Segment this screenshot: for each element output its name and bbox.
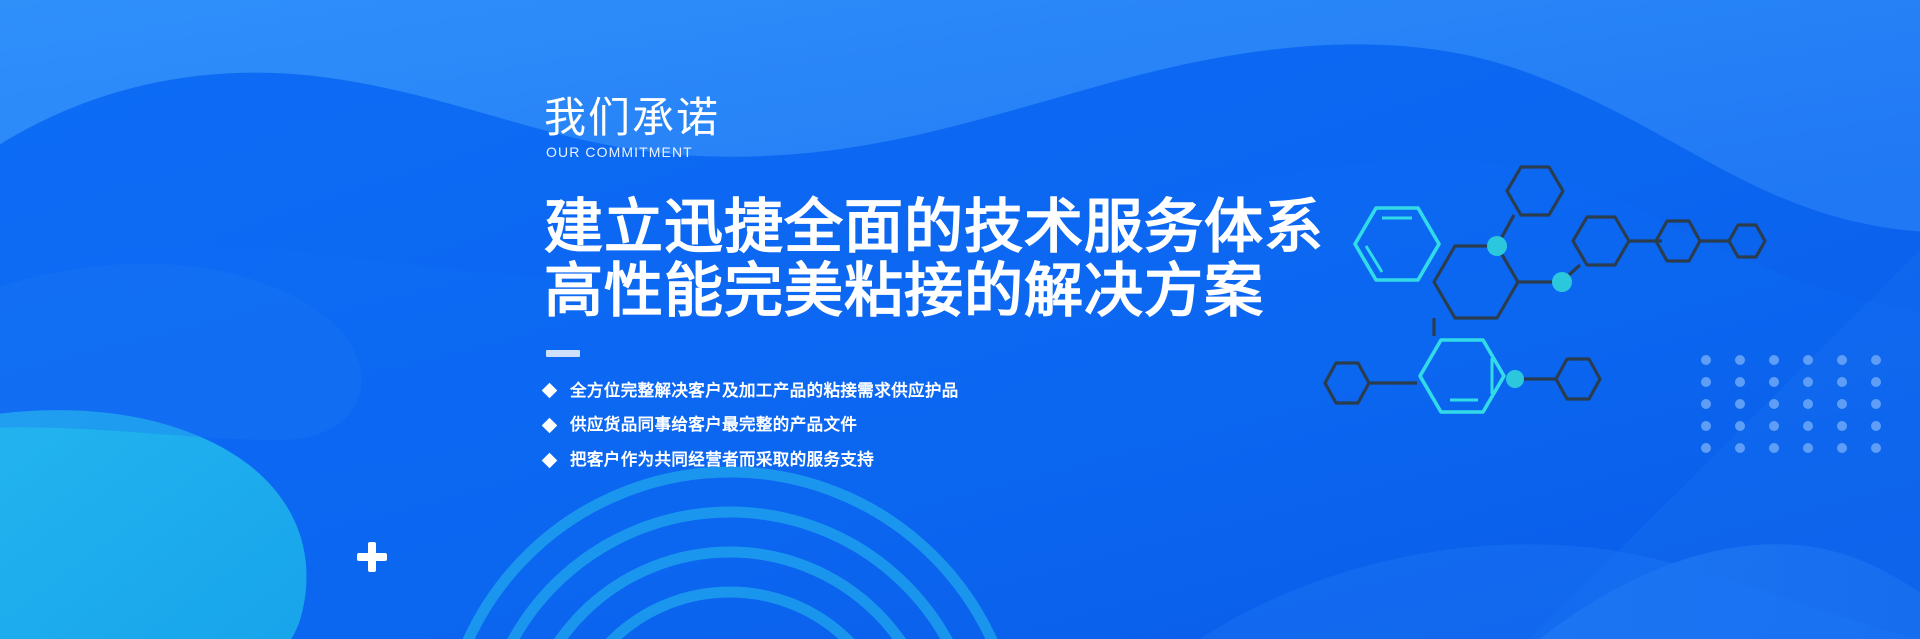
divider-rule	[546, 350, 580, 357]
bullet-list: 全方位完整解决客户及加工产品的粘接需求供应护品 供应货品同事给客户最完整的产品文…	[544, 379, 1304, 473]
headline: 建立迅捷全面的技术服务体系 高性能完美粘接的解决方案	[544, 196, 1304, 323]
promo-banner: 我们承诺 OUR COMMITMENT 建立迅捷全面的技术服务体系 高性能完美粘…	[0, 0, 1920, 639]
bullet-item: 全方位完整解决客户及加工产品的粘接需求供应护品	[544, 379, 1304, 404]
bullet-item: 把客户作为共同经营者而采取的服务支持	[544, 448, 1304, 473]
bullet-text: 供应货品同事给客户最完整的产品文件	[570, 413, 857, 438]
bullet-item: 供应货品同事给客户最完整的产品文件	[544, 413, 1304, 438]
bullet-text: 把客户作为共同经营者而采取的服务支持	[570, 448, 874, 473]
bullet-text: 全方位完整解决客户及加工产品的粘接需求供应护品	[570, 379, 959, 404]
plus-icon	[357, 542, 387, 572]
diamond-icon	[542, 418, 558, 434]
banner-content: 我们承诺 OUR COMMITMENT 建立迅捷全面的技术服务体系 高性能完美粘…	[544, 96, 1304, 483]
eyebrow-title-cn: 我们承诺	[544, 96, 1304, 140]
headline-line-2: 高性能完美粘接的解决方案	[544, 260, 1304, 324]
diamond-icon	[542, 453, 558, 469]
diamond-icon	[542, 383, 558, 399]
headline-line-1: 建立迅捷全面的技术服务体系	[544, 196, 1304, 260]
eyebrow-title-en: OUR COMMITMENT	[546, 144, 1304, 160]
